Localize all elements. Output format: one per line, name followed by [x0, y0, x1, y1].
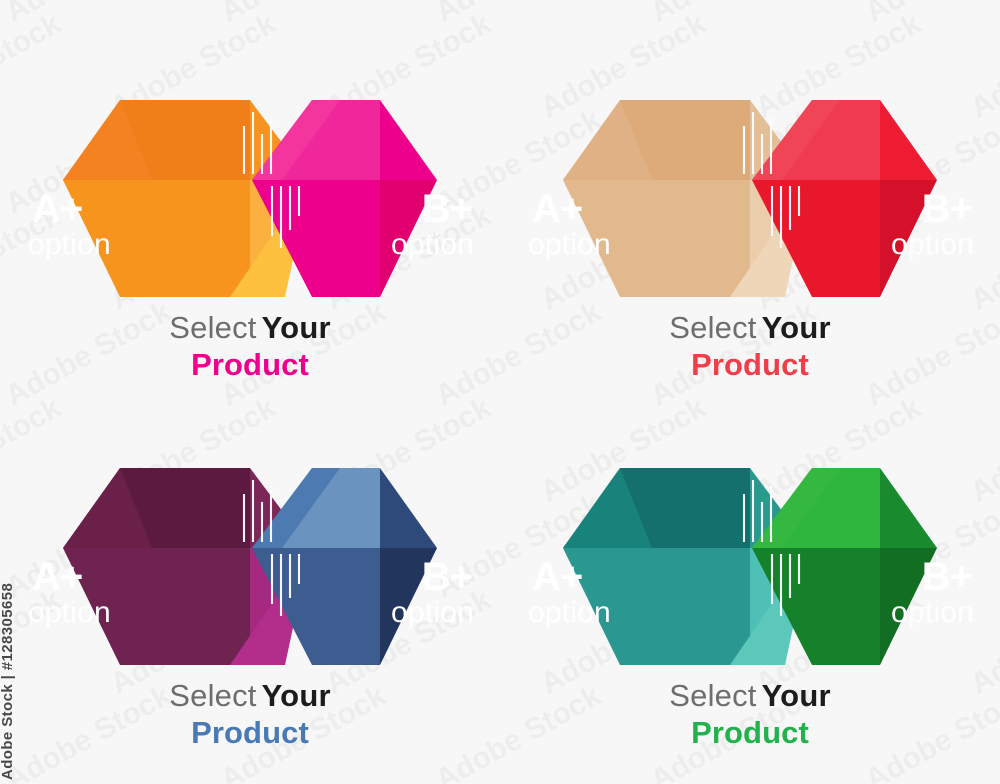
caption-line-1: SelectYour	[0, 312, 500, 343]
caption-select: Select	[169, 678, 256, 713]
caption-your: Your	[762, 310, 831, 345]
hexagon-pair[interactable]: A+ option B+ option	[500, 428, 1000, 678]
caption-your: Your	[762, 678, 831, 713]
facet-right-bot-right	[380, 548, 437, 665]
panel-grid: A+ option B+ option SelectYour Product	[0, 0, 1000, 784]
hexagon-pair-graphic	[500, 428, 1000, 678]
panel-tan-red[interactable]: A+ option B+ option SelectYour Product	[500, 60, 1000, 310]
caption-select: Select	[169, 310, 256, 345]
panel-orange-pink[interactable]: A+ option B+ option SelectYour Product	[0, 60, 500, 310]
caption-line-1: SelectYour	[500, 680, 1000, 711]
hexagon-pair[interactable]: A+ option B+ option	[0, 60, 500, 310]
caption-your: Your	[262, 678, 331, 713]
facet-left-bot-left	[63, 180, 250, 297]
facet-right-bot-right	[880, 180, 937, 297]
facet-right-top-right	[880, 100, 937, 180]
facet-left-bot-left	[63, 548, 250, 665]
hexagon-pair-graphic	[0, 428, 500, 678]
hexagon-pair-graphic	[500, 60, 1000, 310]
facet-right-bot-right	[880, 548, 937, 665]
facet-left-bot-left	[563, 180, 750, 297]
caption-select: Select	[669, 310, 756, 345]
caption-product: Product	[500, 717, 1000, 748]
panel-purple-blue[interactable]: A+ option B+ option SelectYour Product	[0, 428, 500, 678]
facet-right-top-right	[880, 468, 937, 548]
facet-right-top-right	[380, 468, 437, 548]
caption-product: Product	[0, 717, 500, 748]
caption: SelectYour Product	[0, 680, 500, 748]
hexagon-pair[interactable]: A+ option B+ option	[500, 60, 1000, 310]
facet-right-top-right	[380, 100, 437, 180]
caption: SelectYour Product	[500, 680, 1000, 748]
caption-select: Select	[669, 678, 756, 713]
panel-teal-green[interactable]: A+ option B+ option SelectYour Product	[500, 428, 1000, 678]
hexagon-pair[interactable]: A+ option B+ option	[0, 428, 500, 678]
caption: SelectYour Product	[0, 312, 500, 380]
facet-left-bot-left	[563, 548, 750, 665]
caption-your: Your	[262, 310, 331, 345]
facet-right-bot-right	[380, 180, 437, 297]
caption: SelectYour Product	[500, 312, 1000, 380]
caption-line-1: SelectYour	[500, 312, 1000, 343]
caption-product: Product	[0, 349, 500, 380]
hexagon-pair-graphic	[0, 60, 500, 310]
caption-line-1: SelectYour	[0, 680, 500, 711]
caption-product: Product	[500, 349, 1000, 380]
